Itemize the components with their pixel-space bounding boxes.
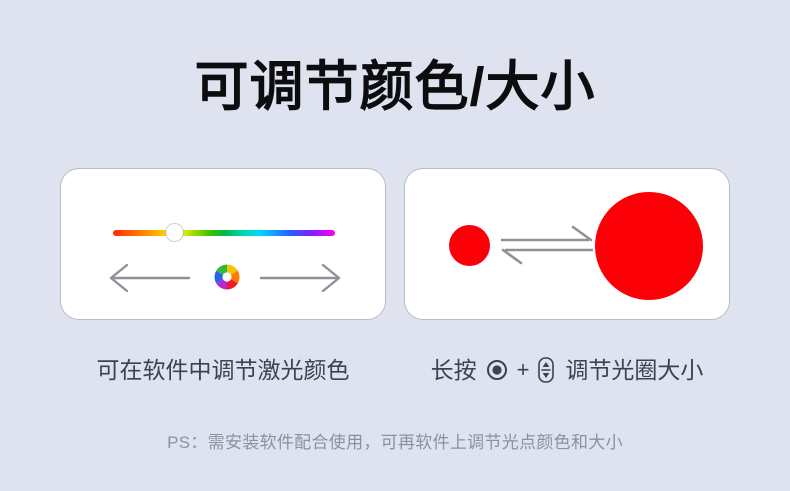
- arrow-row: [101, 255, 347, 301]
- size-caption-prefix: 长按: [431, 354, 477, 386]
- color-card-caption: 可在软件中调节激光颜色: [60, 354, 386, 386]
- ps-footnote: PS：需安装软件配合使用，可再软件上调节光点颜色和大小: [0, 430, 790, 456]
- hue-slider-track[interactable]: [113, 230, 335, 236]
- color-adjust-card: [60, 168, 386, 320]
- arrow-right-icon: [259, 263, 343, 293]
- laser-dot-large: [595, 192, 703, 300]
- plus-symbol: +: [515, 354, 532, 386]
- swap-arrows-icon: [499, 225, 595, 265]
- color-wheel-icon: [209, 259, 245, 295]
- hue-slider-handle[interactable]: [166, 224, 183, 241]
- size-caption-suffix: 调节光圈大小: [565, 354, 703, 386]
- page-title: 可调节颜色/大小: [0, 56, 790, 118]
- record-dot-icon: [486, 359, 508, 381]
- laser-dot-small: [449, 225, 490, 266]
- size-card-caption: 长按 + 调节光圈大小: [404, 354, 730, 386]
- arrow-left-icon: [107, 263, 191, 293]
- up-down-button-icon: [538, 357, 554, 383]
- size-adjust-card: [404, 168, 730, 320]
